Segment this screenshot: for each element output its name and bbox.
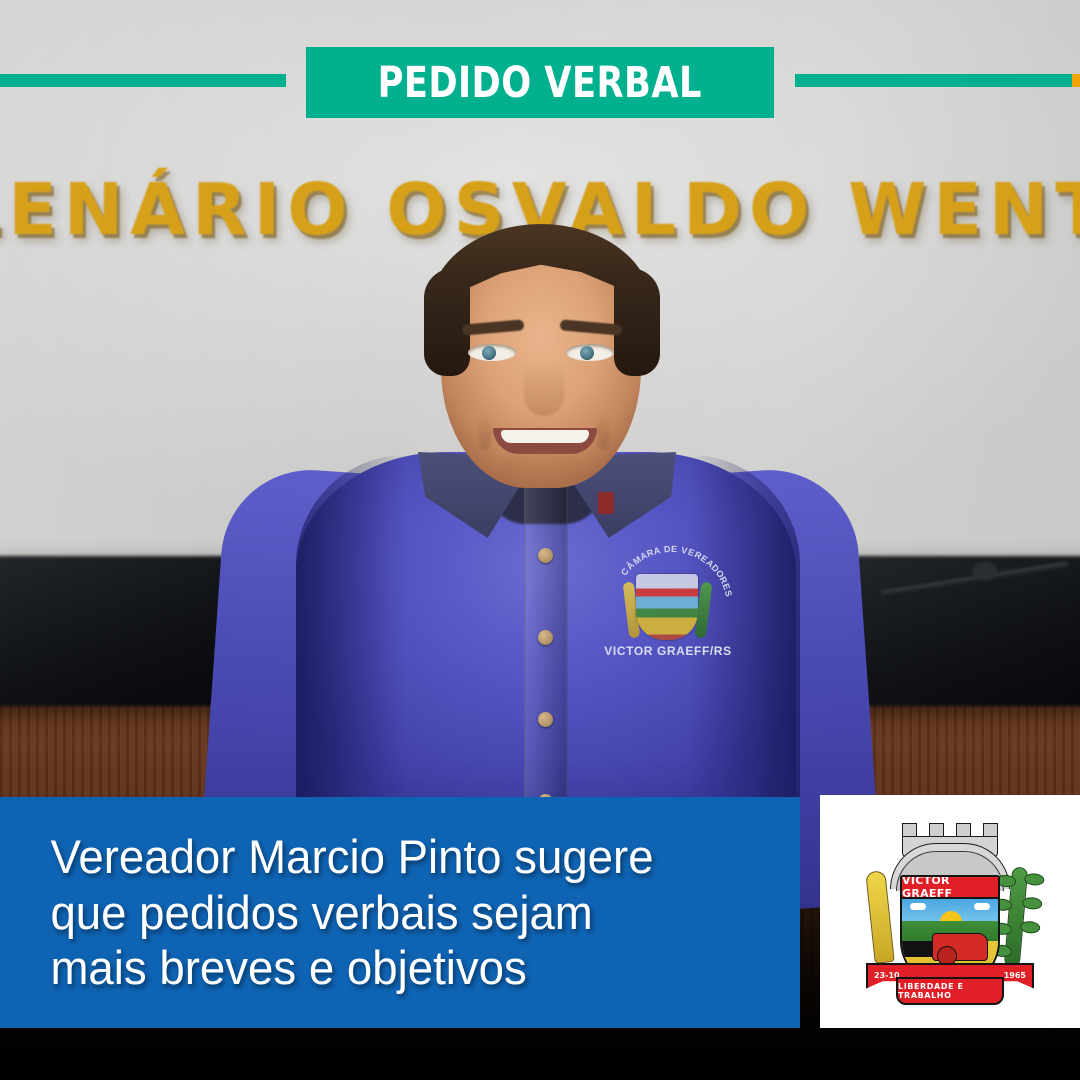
hair-side-left bbox=[424, 268, 470, 376]
coat-of-arms-panel: VICTOR GRAEFF 23-10 1965 LIBERDADE E TRA… bbox=[820, 795, 1080, 1028]
header-rule-left bbox=[0, 74, 286, 87]
collar-tag bbox=[598, 492, 614, 514]
shirt-button bbox=[538, 630, 553, 645]
shirt-embroidered-crest: C Â M A R A D E V E R E A D O R E bbox=[600, 540, 736, 670]
shirt-emblem-label: VICTOR GRAEFF/RS bbox=[600, 644, 736, 658]
mouth bbox=[493, 428, 597, 454]
ribbon-year: 1965 bbox=[1004, 971, 1026, 980]
nose bbox=[524, 362, 564, 416]
hair-side-right bbox=[614, 268, 660, 376]
soy-branch-icon bbox=[1004, 866, 1029, 967]
header-rule-right bbox=[795, 74, 1072, 87]
chin bbox=[502, 452, 586, 480]
caption-line-2: que pedidos verbais sejam bbox=[50, 885, 653, 940]
coat-of-arms-icon: VICTOR GRAEFF 23-10 1965 LIBERDADE E TRA… bbox=[862, 817, 1038, 1007]
header-badge-label: PEDIDO VERBAL bbox=[378, 58, 702, 108]
header-badge: PEDIDO VERBAL bbox=[306, 47, 774, 118]
smile-line-left bbox=[478, 414, 492, 450]
tractor-icon bbox=[932, 933, 988, 961]
caption-panel: Vereador Marcio Pinto sugere que pedidos… bbox=[0, 797, 800, 1028]
caption-text: Vereador Marcio Pinto sugere que pedidos… bbox=[0, 829, 679, 995]
caption-line-3: mais breves e objetivos bbox=[50, 940, 653, 995]
header-rule-accent-cap bbox=[1072, 74, 1080, 87]
eye-left bbox=[468, 344, 516, 361]
shield-name-banner: VICTOR GRAEFF bbox=[902, 877, 998, 899]
caption-line-1: Vereador Marcio Pinto sugere bbox=[50, 829, 653, 884]
eye-right bbox=[566, 344, 614, 361]
smile-line-right bbox=[596, 414, 610, 450]
shirt-button bbox=[538, 548, 553, 563]
shirt-button bbox=[538, 712, 553, 727]
social-media-card: LENÁRIO OSVALDO WENTZ bbox=[0, 0, 1080, 1080]
ribbon-motto: LIBERDADE E TRABALHO bbox=[896, 977, 1004, 1005]
shirt-emblem-shield bbox=[636, 574, 698, 640]
